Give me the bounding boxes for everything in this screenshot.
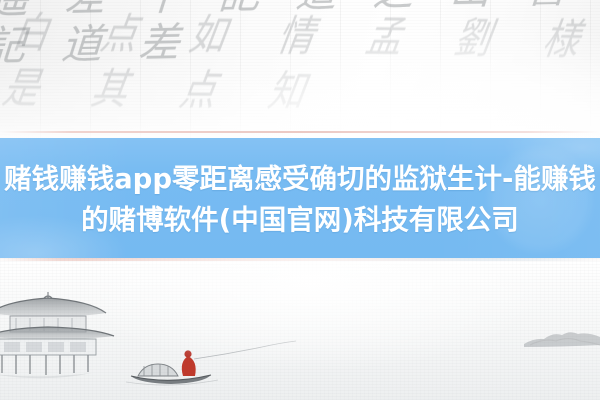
heading-line-2: 的赌博软件(中国官网)科技有限公司 xyxy=(81,200,519,241)
calligraphy-glyph-row-2: 白 点 如 情 孟 劉 様 是 其 点 知 xyxy=(0,6,600,125)
title-band: 赌钱赚钱app零距离感受确切的监狱生计-能赚钱 的赌博软件(中国官网)科技有限公… xyxy=(0,138,600,258)
ink-wash-scene xyxy=(0,258,600,400)
heading-line-1: 赌钱赚钱app零距离感受确切的监狱生计-能赚钱 xyxy=(4,159,596,200)
upper-divider-rule xyxy=(0,131,600,133)
banner-heading: 赌钱赚钱app零距离感受确切的监狱生计-能赚钱 的赌博软件(中国官网)科技有限公… xyxy=(0,138,600,258)
promo-banner: 遙 差 千 記 道 之 山 書 記 道 差 白 点 如 情 孟 劉 様 是 其 … xyxy=(0,0,600,400)
calligraphy-background: 遙 差 千 記 道 之 山 書 記 道 差 白 点 如 情 孟 劉 様 是 其 … xyxy=(0,0,600,138)
landscape-background xyxy=(0,258,600,400)
